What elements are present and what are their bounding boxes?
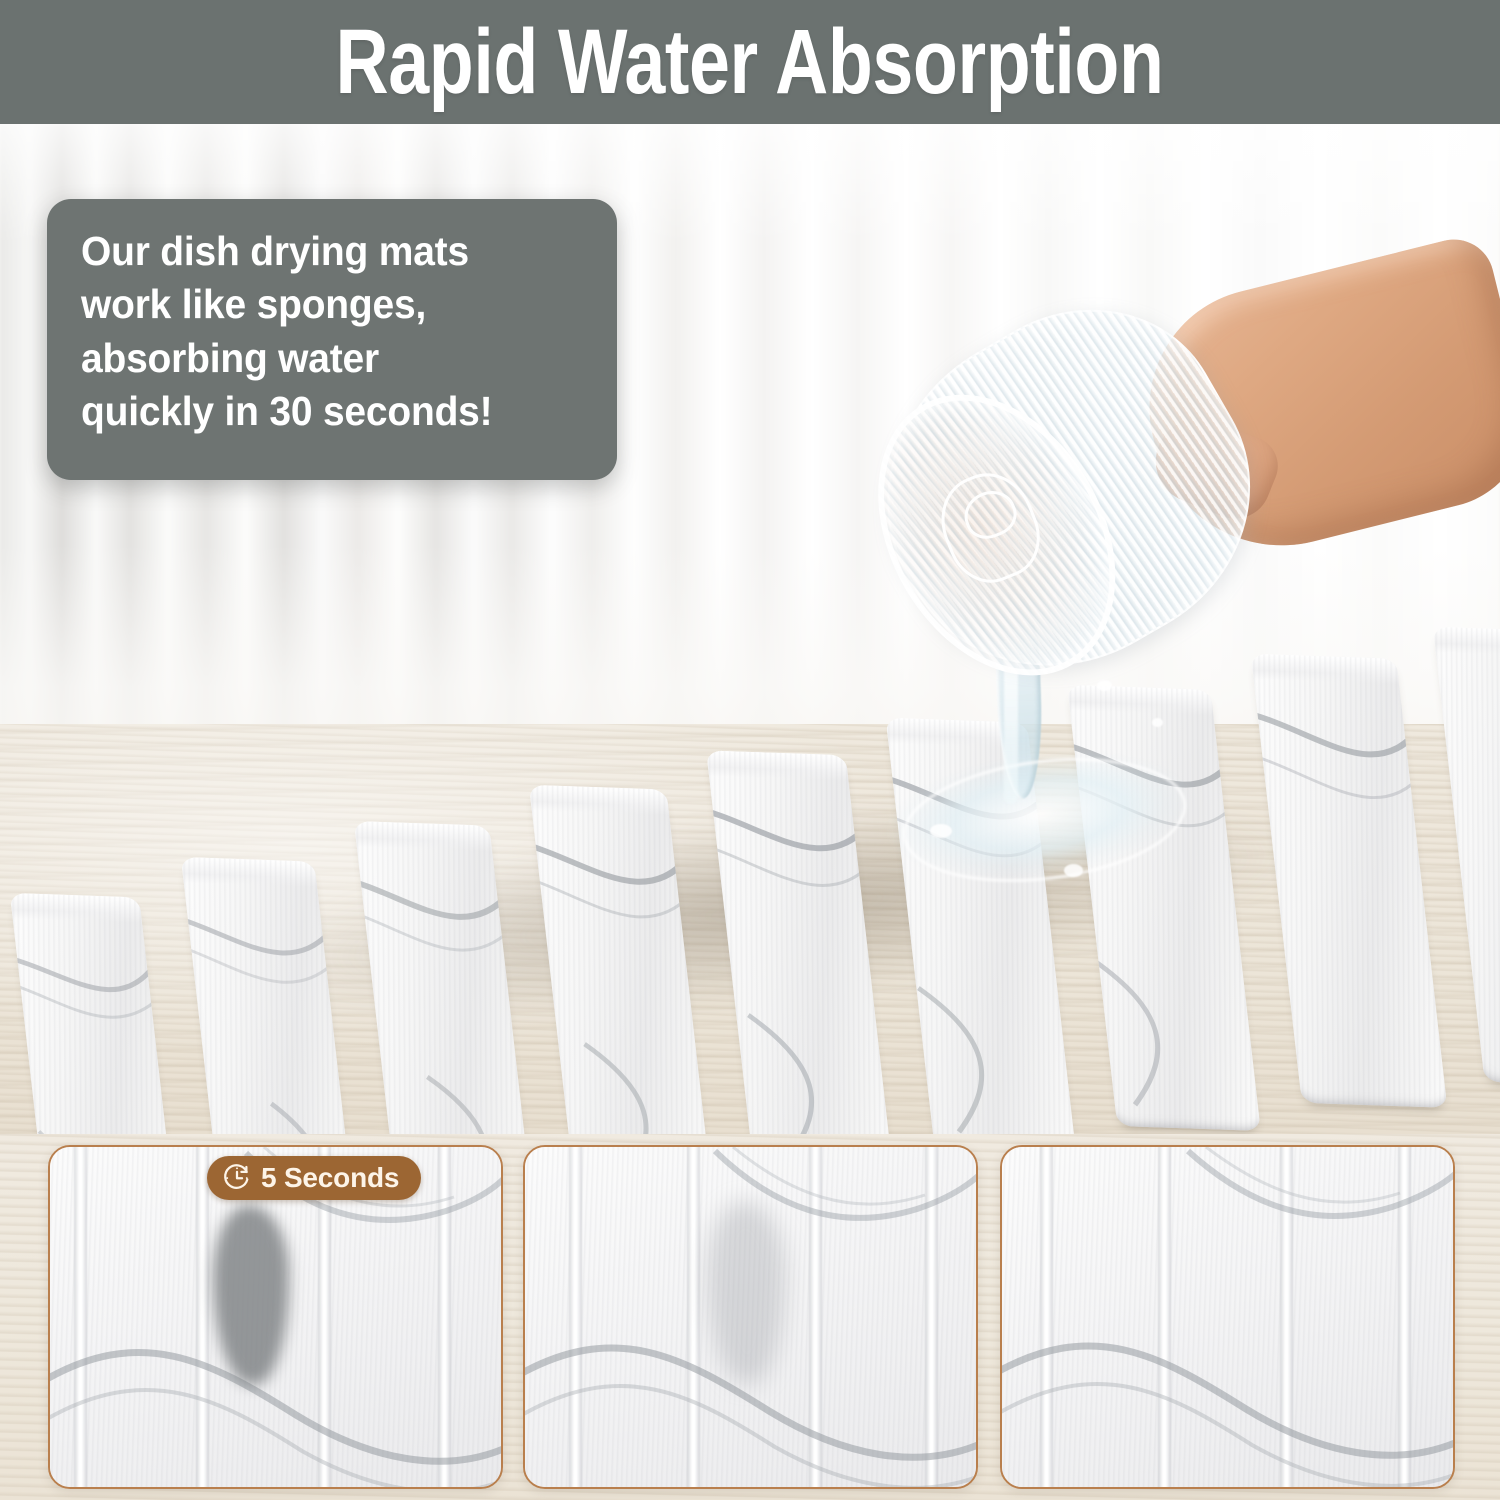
water-droplet [1064,864,1083,877]
comparison-panel-5s: 5 Seconds [48,1145,503,1489]
slat-bevel [10,893,142,923]
clock-refresh-icon [222,1163,252,1193]
water-droplet [1152,718,1163,727]
slat-bevel [181,857,317,887]
page-title: Rapid Water Absorption [336,16,1164,108]
slat-bevel [529,785,669,816]
slat-bevel [1067,685,1213,716]
absorption-comparison-strip: 5 Seconds [0,1134,1500,1500]
slat-bevel [354,821,492,852]
comparison-panel-10s: 10 Seconds [523,1145,978,1489]
water-droplet [1097,680,1112,691]
badge-5-seconds: 5 Seconds [207,1156,421,1200]
slat-bevel [706,750,848,781]
callout-box: Our dish drying mats work like sponges, … [47,199,617,480]
glass-etched-motif [927,460,1053,595]
header-banner: Rapid Water Absorption [0,0,1500,124]
callout-text: Our dish drying mats work like sponges, … [81,225,562,438]
slat-bevel [1251,654,1399,685]
water-droplet [930,824,952,838]
comparison-panel-30s: 30 Seconds [1000,1145,1455,1489]
panel-wave-pattern [1002,1147,1455,1489]
slat-bevel [1433,627,1500,657]
badge-label: 5 Seconds [261,1164,399,1192]
